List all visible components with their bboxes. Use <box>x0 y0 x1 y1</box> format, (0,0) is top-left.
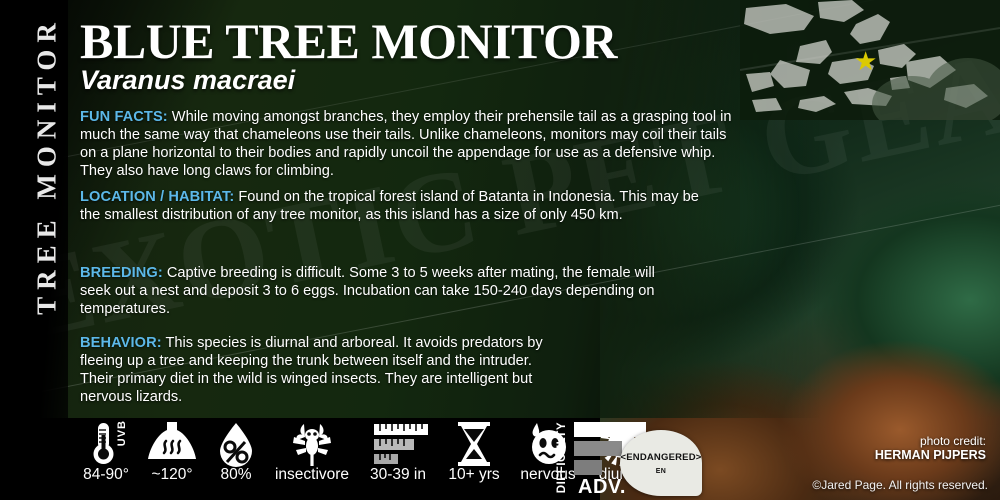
care-item-caption: 84-90° <box>83 466 129 484</box>
copyright-notice: ©Jared Page. All rights reserved. <box>812 478 988 492</box>
difficulty-bar-2 <box>574 441 622 456</box>
ruler-icon <box>366 418 430 466</box>
care-item-lifespan: 10+ yrs <box>436 418 512 500</box>
difficulty-bar-3 <box>574 460 602 475</box>
section-label: BEHAVIOR: <box>80 335 162 351</box>
care-item-diet: insectivore <box>262 418 362 500</box>
section-text: Captive breeding is difficult. Some 3 to… <box>80 265 655 317</box>
care-item-humidity: 80% <box>204 418 268 500</box>
section-behavior: BEHAVIOR: This species is diurnal and ar… <box>80 334 550 406</box>
care-item-caption: 30-39 in <box>370 466 426 484</box>
photo-credit-label: photo credit: <box>875 434 986 448</box>
photo-credit: photo credit: HERMAN PIJPERS <box>875 434 986 463</box>
insect-icon <box>289 418 335 466</box>
care-item-temperature: UVB 84-90° <box>70 418 142 500</box>
scientific-name: Varanus macraei <box>80 66 295 94</box>
care-item-caption: 10+ yrs <box>448 466 499 484</box>
section-label: FUN FACTS: <box>80 109 168 125</box>
section-label: BREEDING: <box>80 265 163 281</box>
difficulty-label: DIFFICULTY <box>556 422 568 493</box>
conservation-status-badge: <ENDANGERED> EN <box>620 430 702 496</box>
care-item-basking: ~120° <box>136 418 208 500</box>
range-map: ★ <box>740 0 1000 120</box>
side-tab: TREE MONITOR <box>0 0 68 418</box>
difficulty-bar-1 <box>574 422 646 437</box>
care-item-caption: 80% <box>220 466 251 484</box>
care-item-size: 30-39 in <box>356 418 440 500</box>
species-info-card: EXOTIC PET GEAR <box>0 0 1000 500</box>
uvb-badge-label: UVB <box>116 420 128 446</box>
section-breeding: BREEDING: Captive breeding is difficult.… <box>80 264 680 318</box>
section-location-habitat: LOCATION / HABITAT: Found on the tropica… <box>80 188 720 224</box>
humidity-droplet-icon <box>215 418 257 466</box>
hourglass-icon <box>453 418 495 466</box>
care-item-caption: ~120° <box>151 466 192 484</box>
page-title: BLUE TREE MONITOR <box>80 16 617 66</box>
photo-credit-name: HERMAN PIJPERS <box>875 448 986 463</box>
side-tab-label: TREE MONITOR <box>32 1 63 331</box>
section-text: While moving amongst branches, they empl… <box>80 109 732 179</box>
thermometer-icon: UVB <box>82 418 130 466</box>
section-fun-facts: FUN FACTS: While moving amongst branches… <box>80 108 740 180</box>
star-marker-icon: ★ <box>854 48 877 74</box>
section-label: LOCATION / HABITAT: <box>80 189 234 205</box>
conservation-status-text: <ENDANGERED> <box>620 452 701 463</box>
care-item-caption: insectivore <box>275 466 349 484</box>
basking-lamp-icon <box>146 418 198 466</box>
difficulty-value: ADV. <box>578 476 626 499</box>
conservation-status-code: EN <box>656 468 667 475</box>
